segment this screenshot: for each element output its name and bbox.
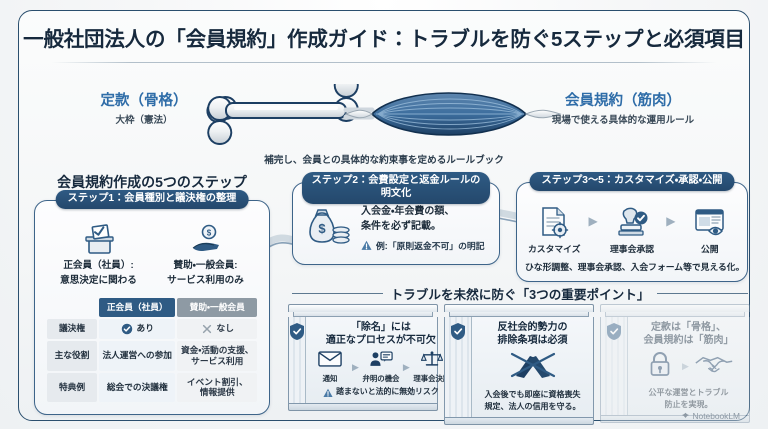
- pillar1-note-text: 踏まないと法的に無効リスク: [336, 387, 439, 398]
- flow-item-customize: カスタマイズ: [525, 203, 584, 255]
- step35-footer: ひな形調整、理事会承認、入会フォーム等で見える化。: [525, 260, 739, 273]
- pillar-icons-1: 通知 ▶ 弁明の機会: [311, 350, 451, 384]
- pillar-content-2: 反社会的勢力の 排除条項は必須 入会後でも即座に資格喪失 規定、法人の信用を守る…: [472, 317, 593, 417]
- step2-note-text: 例:「原則返金不可」の明記: [376, 239, 485, 252]
- pillar-bone-muscle-summary[interactable]: 定款は「骨格」、 会員規約は「筋肉」 ▶: [600, 304, 750, 425]
- pillar-content-1: 「除名」には 適正なプロセスが不可欠 通知 ▶: [306, 317, 456, 403]
- document-gear-icon: [525, 203, 584, 239]
- pillar1-note: 踏まないと法的に無効リスク: [311, 387, 451, 398]
- page-title: 一般社団法人の「会員規約」作成ガイド：トラブルを防ぐ5ステップと必須項目: [0, 22, 768, 52]
- step2-badge: ステップ2：会費設定と返金ルールの明文化: [302, 172, 490, 204]
- cell-role-regular: 法人運営への参加: [99, 341, 175, 371]
- points-rule-left: [292, 293, 383, 294]
- pillars-row: 「除名」には 適正なプロセスが不可欠 通知 ▶: [288, 304, 752, 425]
- step2-card[interactable]: ステップ2：会費設定と返金ルールの明文化 $ 入会金・年会費の額、 条件を必ず記…: [292, 182, 500, 265]
- bone-icon: [196, 84, 576, 146]
- anatomy-row: 定款（骨格） 大枠（憲法）: [0, 84, 768, 146]
- pillar-expulsion-process[interactable]: 「除名」には 適正なプロセスが不可欠 通知 ▶: [288, 304, 438, 425]
- watermark-label: NotebookLM: [693, 411, 741, 421]
- crossed-flags-block-icon: [506, 350, 560, 380]
- svg-text:$: $: [206, 229, 211, 238]
- lock-icon: [648, 350, 672, 378]
- chevron-right-icon-p1b: ▶: [403, 362, 410, 373]
- warning-triangle-icon-p1: [323, 388, 333, 398]
- pillar2-icon-block: [506, 350, 560, 385]
- teikan-label-group: 定款（骨格） 大枠（憲法）: [74, 92, 214, 126]
- flow-label-approval: 理事会承認: [603, 242, 662, 255]
- chevron-right-icon-p1a: ▶: [352, 362, 359, 373]
- check-circle-icon: [121, 323, 133, 335]
- pillar-icons-3: ▶: [633, 350, 744, 383]
- member-type-regular-line1: 正会員（社員）:: [47, 260, 151, 272]
- member-type-supporting-line1: 賛助・一般会員:: [154, 260, 258, 272]
- pillar3-body-text: 公平な運営とトラブル 防止を実現。: [633, 387, 744, 409]
- kaiin-kiyaku-label-group: 会員規約（筋肉） 現場で使える具体的な運用ルール: [530, 92, 716, 126]
- envelope-icon: [318, 350, 342, 367]
- pillar-title-1: 「除名」には 適正なプロセスが不可欠: [311, 321, 451, 347]
- pillar1-step-notice: 通知: [311, 350, 349, 384]
- step1-badge: ステップ1：会員種別と議決権の整理: [56, 190, 249, 209]
- teikan-sublabel: 大枠（憲法）: [74, 112, 214, 126]
- pillar3-icon-handshake: [692, 351, 736, 382]
- watermark: NotebookLM: [681, 411, 741, 421]
- pillar-body-1: 「除名」には 適正なプロセスが不可欠 通知 ▶: [288, 317, 438, 404]
- step35-flow: カスタマイズ ▶ 理事会承認 ▶: [525, 203, 739, 255]
- flow-label-customize: カスタマイズ: [525, 242, 584, 255]
- pillar1-caption-notice: 通知: [311, 373, 349, 384]
- table-header-supporting: 賛助・一般会員: [177, 298, 257, 317]
- pillar-content-3: 定款は「骨格」、 会員規約は「筋肉」 ▶: [628, 317, 749, 415]
- step2-text-group: 入会金・年会費の額、 条件を必ず記載。 例:「原則返金不可」の明記: [361, 205, 485, 252]
- connector-caption: 補完し、会員との具体的な約束事を定めるルールブック: [0, 152, 768, 166]
- chevron-right-icon-2: ▶: [666, 203, 675, 239]
- bone-shape: [207, 84, 357, 144]
- table-row: 議決権 あり: [47, 319, 257, 339]
- handshake-icon: [694, 351, 734, 377]
- steps-section-heading: 会員規約作成の5つのステップ: [34, 172, 270, 192]
- member-type-regular-line2: 意思決定に関わる: [47, 275, 151, 287]
- pillar1-step-defense: 弁明の機会: [362, 350, 400, 384]
- pillar-base-1: [288, 404, 438, 411]
- pillar-column-1: [289, 317, 306, 403]
- step35-card[interactable]: ステップ3〜5：カスタマイズ・承認・公開 カスタマイズ ▶: [516, 182, 748, 282]
- shield-check-icon-2: [450, 322, 466, 341]
- cell-voting-regular-text: あり: [137, 323, 154, 334]
- flow-label-publish: 公開: [681, 242, 740, 255]
- pillar1-caption-defense: 弁明の機会: [362, 373, 400, 384]
- member-type-supporting: $ 賛助・一般会員: サービス利用のみ: [154, 223, 258, 288]
- scales-icon: [421, 350, 443, 367]
- publish-eye-icon: [681, 203, 740, 239]
- kaiin-kiyaku-label: 会員規約（筋肉）: [530, 92, 716, 110]
- cell-voting-supporting: なし: [177, 319, 257, 339]
- infographic-root: 一般社団法人の「会員規約」作成ガイド：トラブルを防ぐ5ステップと必須項目 定款（…: [0, 0, 768, 429]
- svg-text:$: $: [318, 221, 326, 236]
- cell-role-supporting: 資金・活動の支援、 サービス利用: [177, 341, 257, 371]
- ballot-box-icon: [47, 223, 151, 257]
- pillar-capital-2: [444, 304, 594, 312]
- pillar-base-2: [444, 418, 594, 425]
- pillar-body-3: 定款は「骨格」、 会員規約は「筋肉」 ▶: [600, 317, 750, 416]
- hand-coin-icon: $: [154, 223, 258, 257]
- step2-note: 例:「原則返金不可」の明記: [361, 239, 485, 252]
- money-bag-icon: $: [303, 203, 353, 254]
- cell-benefits-regular: 総会での決議権: [99, 373, 175, 403]
- step1-card[interactable]: ステップ1：会員種別と議決権の整理 正会員（社員）: 意思決定に関わる: [34, 200, 270, 415]
- bone-muscle-illustration: [196, 84, 576, 146]
- pillar-column-3: [601, 317, 628, 415]
- table-corner-cell: [47, 298, 97, 317]
- chevron-right-icon-p3: ▶: [682, 361, 689, 372]
- pillar3-icon-lock: [641, 350, 679, 383]
- member-type-row: 正会員（社員）: 意思決定に関わる $ 賛助・一般会員: サービス利用のみ: [45, 223, 259, 288]
- chevron-right-icon: ▶: [589, 203, 598, 239]
- row-label-role: 主な役割: [47, 341, 97, 371]
- teikan-label: 定款（骨格）: [74, 92, 214, 110]
- flow-item-publish: 公開: [681, 203, 740, 255]
- points-section-heading: トラブルを未然に防ぐ「3つの重要ポイント」: [391, 284, 650, 303]
- table-header-regular: 正会員（社員）: [99, 298, 175, 317]
- step35-badge: ステップ3〜5：カスタマイズ・承認・公開: [530, 172, 735, 191]
- row-label-voting: 議決権: [47, 319, 97, 339]
- step2-text: 入会金・年会費の額、 条件を必ず記載。: [361, 205, 485, 234]
- notebooklm-icon: [681, 412, 690, 421]
- pillar-icons-2: [477, 350, 588, 385]
- cell-voting-supporting-text: なし: [217, 323, 234, 334]
- table-row: 特典例 総会での決議権 イベント割引、 情報提供: [47, 373, 257, 403]
- pillar-antisocial-clause[interactable]: 反社会的勢力の 排除条項は必須 入会後でも即座に資格喪失 規定、法人の信用を守る…: [444, 304, 594, 425]
- approval-stamp-icon: [603, 203, 662, 239]
- table-header-row: 正会員（社員） 賛助・一般会員: [47, 298, 257, 317]
- speech-person-icon: [369, 350, 393, 367]
- pillar-capital-1: [288, 304, 438, 312]
- pillar-capital-3: [600, 304, 750, 312]
- pillar-column-2: [445, 317, 472, 417]
- step2-body: $ 入会金・年会費の額、 条件を必ず記載。 例:「原則返金不可」の明記: [303, 203, 489, 254]
- points-rule-right: [657, 293, 748, 294]
- member-type-regular: 正会員（社員）: 意思決定に関わる: [47, 223, 151, 288]
- points-section-heading-group: トラブルを未然に防ぐ「3つの重要ポイント」: [292, 284, 748, 303]
- pillar2-body-text: 入会後でも即座に資格喪失 規定、法人の信用を守る。: [477, 389, 588, 411]
- title-divider: [52, 62, 716, 63]
- member-comparison-table: 正会員（社員） 賛助・一般会員 議決権: [45, 296, 259, 404]
- table-row: 主な役割 法人運営への参加 資金・活動の支援、 サービス利用: [47, 341, 257, 371]
- row-label-benefits: 特典例: [47, 373, 97, 403]
- shield-check-icon-3: [606, 322, 622, 341]
- pillar-title-3: 定款は「骨格」、 会員規約は「筋肉」: [633, 321, 744, 347]
- warning-triangle-icon: [361, 240, 372, 251]
- cell-benefits-supporting: イベント割引、 情報提供: [177, 373, 257, 403]
- cross-icon: [201, 323, 213, 335]
- pillar-title-2: 反社会的勢力の 排除条項は必須: [477, 321, 588, 347]
- pillar-body-2: 反社会的勢力の 排除条項は必須 入会後でも即座に資格喪失 規定、法人の信用を守る…: [444, 317, 594, 418]
- member-type-supporting-line2: サービス利用のみ: [154, 275, 258, 287]
- shield-check-icon: [289, 322, 305, 341]
- steps-left-column: 会員規約作成の5つのステップ ステップ1：会員種別と議決権の整理 正会員（社員）…: [34, 172, 270, 415]
- cell-voting-regular: あり: [99, 319, 175, 339]
- flow-item-approval: 理事会承認: [603, 203, 662, 255]
- muscle-icon: [346, 93, 560, 135]
- kaiin-kiyaku-sublabel: 現場で使える具体的な運用ルール: [530, 112, 716, 126]
